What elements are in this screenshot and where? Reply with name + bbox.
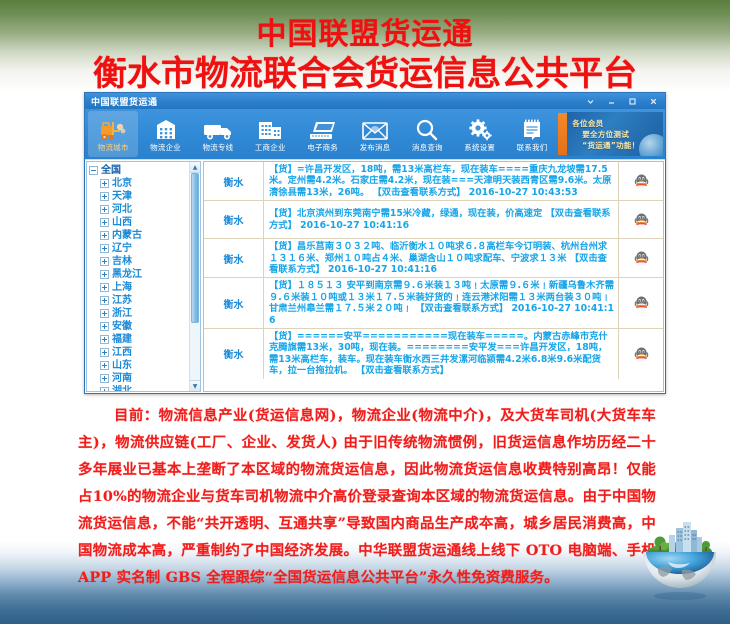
expand-toggle-icon[interactable] [100, 205, 109, 214]
table-row[interactable]: 衡水 【货】北京滨州到东莞南宁需15米冷藏，绿通，现在装，价高速定 【双击查看联… [204, 201, 663, 239]
tree-node-henan[interactable]: 河南 [89, 372, 189, 385]
tree-node-label: 江苏 [112, 295, 132, 307]
building-icon [153, 116, 179, 142]
toolbar-label: 系统设置 [464, 143, 495, 152]
tree-node-shanghai[interactable]: 上海 [89, 281, 189, 294]
tree-node-beijing[interactable]: 北京 [89, 177, 189, 190]
scrollbar-track[interactable] [190, 323, 200, 380]
tree-node-label: 辽宁 [112, 243, 132, 255]
cell-city: 衡水 [204, 201, 264, 238]
tree-node-shanxi[interactable]: 山西 [89, 216, 189, 229]
collapse-toggle-icon[interactable] [89, 166, 98, 175]
office-icon [256, 116, 284, 142]
toolbar-item-industrial-company[interactable]: 工商企业 [245, 111, 295, 157]
window-title: 中国联盟货运通 [85, 95, 158, 108]
globe-city-graphic [638, 516, 722, 602]
message-text: 【货】======安平===========现在装车=====。内蒙古赤峰市克什… [269, 331, 608, 376]
message-timestamp: 2016-10-27 10:41:16 [300, 220, 409, 231]
main-toolbar: 物流城市 物流企业 [85, 109, 665, 159]
tree-node-label: 北京 [112, 178, 132, 190]
scrollbar-thumb[interactable] [191, 173, 199, 323]
expand-toggle-icon[interactable] [100, 179, 109, 188]
cell-city: 衡水 [204, 239, 264, 277]
tree-node-shandong[interactable]: 山东 [89, 359, 189, 372]
tree-node-label: 福建 [112, 334, 132, 346]
cell-city: 衡水 [204, 278, 264, 328]
table-row[interactable]: 衡水 【货】昌乐莒南３０３２吨、临沂衡水１０吨求６.８高栏车今订明装、杭州台州求… [204, 239, 663, 278]
cell-qq[interactable] [619, 239, 663, 277]
toolbar-label: 工商企业 [255, 143, 286, 152]
tree-node-liaoning[interactable]: 辽宁 [89, 242, 189, 255]
expand-toggle-icon[interactable] [100, 283, 109, 292]
envelope-icon [360, 116, 390, 142]
expand-toggle-icon[interactable] [100, 309, 109, 318]
toolbar-label: 物流企业 [150, 143, 181, 152]
ad-line-1: 各位会员 [572, 118, 663, 129]
cell-qq[interactable] [619, 278, 663, 328]
toolbar-item-logistics-line[interactable]: 物流专线 [193, 111, 243, 157]
tree-node-anhui[interactable]: 安徽 [89, 320, 189, 333]
tree-vertical-scrollbar[interactable]: ▲ ▼ [189, 162, 200, 391]
toolbar-item-publish-message[interactable]: 发布消息 [350, 111, 400, 157]
expand-toggle-icon[interactable] [100, 348, 109, 357]
region-tree-panel: 全国 北京 天津 河北 山西 内蒙古 辽宁 吉林 黑龙江 上海 江苏 浙江 安徽… [86, 161, 201, 392]
tree-node-label: 安徽 [112, 321, 132, 333]
description-paragraph: 目前：物流信息产业(货运信息网)，物流企业(物流中介)，及大货车司机(大货车车主… [78, 402, 656, 591]
cell-message[interactable]: 【货】北京滨州到东莞南宁需15米冷藏，绿通，现在装，价高速定 【双击查看联系方式… [264, 201, 619, 238]
toolbar-label: 物流专线 [202, 143, 233, 152]
maximize-icon[interactable] [622, 94, 642, 108]
expand-toggle-icon[interactable] [100, 218, 109, 227]
expand-toggle-icon[interactable] [100, 335, 109, 344]
qq-icon[interactable] [634, 212, 649, 228]
tree-node-jiangxi[interactable]: 江西 [89, 346, 189, 359]
tree-node-tianjin[interactable]: 天津 [89, 190, 189, 203]
tree-node-label: 天津 [112, 191, 132, 203]
search-icon [414, 116, 440, 142]
slide-canvas: 中国联盟货运通 衡水市物流联合会货运信息公共平台 中国联盟货运通 [0, 0, 730, 624]
tree-node-hubei[interactable]: 湖北 [89, 385, 189, 392]
cell-message[interactable]: 【货】======安平===========现在装车=====。内蒙古赤峰市克什… [264, 329, 619, 379]
ad-banner[interactable]: 各位会员 要全方位测试 “货运通”功能！ [567, 112, 663, 156]
tree-node-zhejiang[interactable]: 浙江 [89, 307, 189, 320]
region-tree: 全国 北京 天津 河北 山西 内蒙古 辽宁 吉林 黑龙江 上海 江苏 浙江 安徽… [87, 162, 189, 391]
chevron-down-icon[interactable] [580, 94, 600, 108]
gear-icon [466, 116, 494, 142]
tree-node-label: 山东 [112, 360, 132, 372]
toolbar-label: 发布消息 [360, 143, 391, 152]
close-icon[interactable] [643, 94, 663, 108]
scroll-down-icon[interactable]: ▼ [190, 380, 200, 391]
tree-node-label: 上海 [112, 282, 132, 294]
tree-node-fujian[interactable]: 福建 [89, 333, 189, 346]
cell-city: 衡水 [204, 162, 264, 200]
toolbar-item-contact-us[interactable]: 联系我们 [507, 111, 557, 157]
toolbar-item-system-settings[interactable]: 系统设置 [455, 111, 505, 157]
message-timestamp: 2016-10-27 10:41:16 [328, 264, 437, 275]
toolbar-label: 消息查询 [412, 143, 443, 152]
toolbar-label: 联系我们 [517, 143, 548, 152]
toolbar-item-logistics-city[interactable]: 物流城市 [88, 111, 138, 157]
table-row[interactable]: 衡水 【货】======安平===========现在装车=====。内蒙古赤峰… [204, 329, 663, 379]
tree-node-label: 全国 [101, 165, 121, 177]
truck-icon [202, 116, 234, 142]
cell-message[interactable]: 【货】昌乐莒南３０３２吨、临沂衡水１０吨求６.８高栏车今订明装、杭州台州求１３１… [264, 239, 619, 277]
expand-toggle-icon[interactable] [100, 231, 109, 240]
table-row[interactable]: 衡水 【货】１８５１３ 安平到南京需９.６米装１３吨﹗太原需９.６米﹗新疆乌鲁木… [204, 278, 663, 329]
expand-toggle-icon[interactable] [100, 374, 109, 383]
expand-toggle-icon[interactable] [100, 244, 109, 253]
headline-primary: 中国联盟货运通 [0, 18, 730, 52]
expand-toggle-icon[interactable] [100, 361, 109, 370]
computer-icon [308, 116, 338, 142]
tree-node-label: 黑龙江 [112, 269, 142, 281]
freight-message-table: 衡水 【货】=许昌开发区，18吨，需13米高栏车，现在装车====重庆九龙坡需1… [203, 161, 664, 392]
toolbar-orange-divider [558, 113, 567, 155]
window-body: 全国 北京 天津 河北 山西 内蒙古 辽宁 吉林 黑龙江 上海 江苏 浙江 安徽… [85, 159, 665, 393]
tree-node-label: 浙江 [112, 308, 132, 320]
qq-icon[interactable] [634, 346, 649, 362]
expand-toggle-icon[interactable] [100, 270, 109, 279]
window-controls [580, 93, 663, 109]
message-timestamp: 2016-10-27 10:43:53 [469, 187, 578, 198]
expand-toggle-icon[interactable] [100, 387, 109, 392]
minimize-icon[interactable] [601, 94, 621, 108]
expand-toggle-icon[interactable] [100, 192, 109, 201]
tree-node-jiangsu[interactable]: 江苏 [89, 294, 189, 307]
expand-toggle-icon[interactable] [100, 322, 109, 331]
tree-node-label: 山西 [112, 217, 132, 229]
cell-qq[interactable] [619, 162, 663, 200]
qq-icon[interactable] [634, 250, 649, 266]
message-text: 【货】昌乐莒南３０３２吨、临沂衡水１０吨求６.８高栏车今订明装、杭州台州求１３１… [269, 241, 607, 275]
application-window: 中国联盟货运通 [84, 92, 666, 394]
headline-secondary: 衡水市物流联合会货运信息公共平台 [0, 54, 730, 94]
expand-toggle-icon[interactable] [100, 296, 109, 305]
toolbar-item-ecommerce[interactable]: 电子商务 [297, 111, 347, 157]
forklift-icon [98, 116, 128, 142]
tree-node-hebei[interactable]: 河北 [89, 203, 189, 216]
ad-globe-icon [639, 134, 663, 156]
toolbar-label: 电子商务 [307, 143, 338, 152]
tree-node-jilin[interactable]: 吉林 [89, 255, 189, 268]
expand-toggle-icon[interactable] [100, 257, 109, 266]
scroll-up-icon[interactable]: ▲ [190, 162, 200, 173]
tree-node-root[interactable]: 全国 [89, 164, 189, 177]
table-row[interactable]: 衡水 【货】=许昌开发区，18吨，需13米高栏车，现在装车====重庆九龙坡需1… [204, 162, 663, 201]
document-icon [519, 116, 545, 142]
qq-icon[interactable] [634, 295, 649, 311]
qq-icon[interactable] [634, 173, 649, 189]
window-titlebar: 中国联盟货运通 [85, 93, 665, 109]
tree-node-label: 河南 [112, 373, 132, 385]
toolbar-label: 物流城市 [98, 143, 129, 152]
cell-qq[interactable] [619, 329, 663, 379]
tree-node-label: 江西 [112, 347, 132, 359]
tree-node-label: 内蒙古 [112, 230, 142, 242]
cell-qq[interactable] [619, 201, 663, 238]
tree-node-heilongjiang[interactable]: 黑龙江 [89, 268, 189, 281]
cell-message[interactable]: 【货】=许昌开发区，18吨，需13米高栏车，现在装车====重庆九龙坡需17.5… [264, 162, 619, 200]
tree-node-neimenggu[interactable]: 内蒙古 [89, 229, 189, 242]
cell-city: 衡水 [204, 329, 264, 379]
cell-message[interactable]: 【货】１８５１３ 安平到南京需９.６米装１３吨﹗太原需９.６米﹗新疆乌鲁木齐需９… [264, 278, 619, 328]
toolbar-item-logistics-company[interactable]: 物流企业 [140, 111, 190, 157]
tree-node-label: 湖北 [112, 386, 132, 393]
tree-node-label: 吉林 [112, 256, 132, 268]
toolbar-item-message-query[interactable]: 消息查询 [402, 111, 452, 157]
tree-node-label: 河北 [112, 204, 132, 216]
